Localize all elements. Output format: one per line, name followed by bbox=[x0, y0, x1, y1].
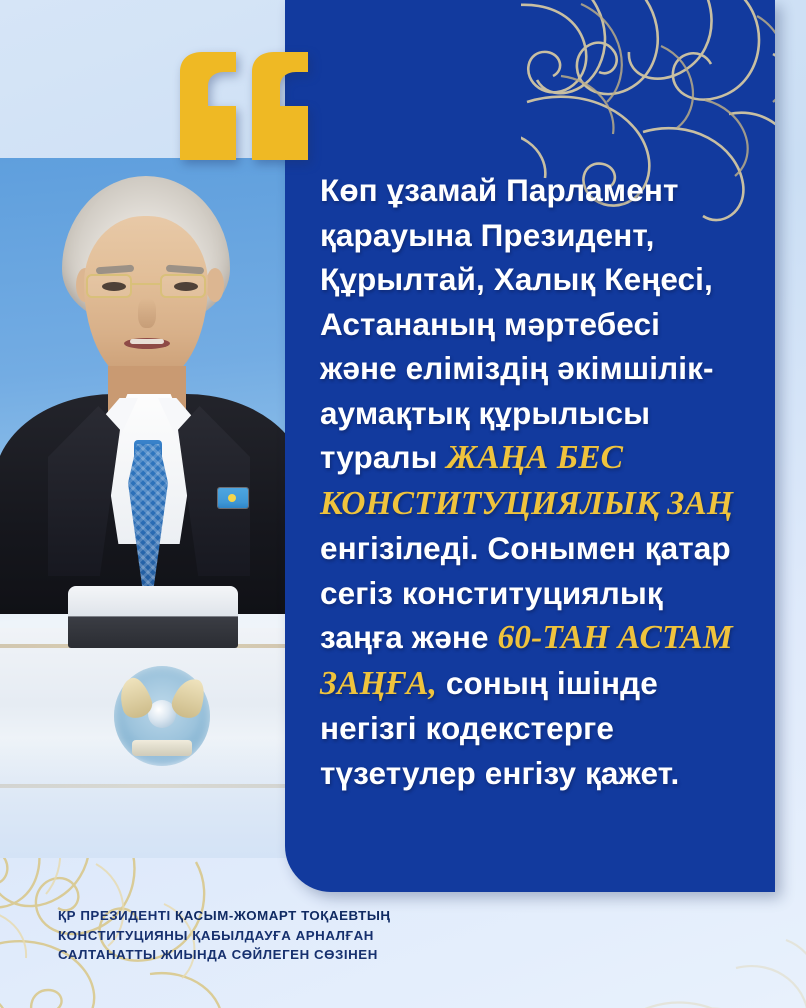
caption-line-3: САЛТАНАТТЫ ЖИЫНДА СӨЙЛЕГЕН СӨЗІНЕН bbox=[58, 945, 391, 965]
president-portrait-photo bbox=[0, 158, 300, 858]
caption-speaker-name: ҚАСЫМ-ЖОМАРТ ТОҚАЕВТЫҢ bbox=[175, 908, 391, 923]
caption-prefix: ҚР ПРЕЗИДЕНТІ bbox=[58, 908, 175, 923]
caption-line-1: ҚР ПРЕЗИДЕНТІ ҚАСЫМ-ЖОМАРТ ТОҚАЕВТЫҢ bbox=[58, 906, 391, 926]
caption: ҚР ПРЕЗИДЕНТІ ҚАСЫМ-ЖОМАРТ ТОҚАЕВТЫҢ КОН… bbox=[58, 906, 391, 965]
quote-text: Көп ұзамай Парламент қарауына Президент,… bbox=[320, 168, 740, 795]
double-quote-icon bbox=[178, 52, 310, 160]
quote-segment-1: Көп ұзамай Парламент қарауына Президент,… bbox=[320, 172, 714, 475]
ear bbox=[206, 268, 224, 302]
caption-line-2: КОНСТИТУЦИЯНЫ ҚАБЫЛДАУҒА АРНАЛҒАН bbox=[58, 926, 391, 946]
quote-card: Көп ұзамай Парламент қарауына Президент,… bbox=[0, 0, 806, 1008]
photo-fade bbox=[0, 738, 300, 858]
kazakhstan-flag-pin-icon bbox=[218, 488, 248, 508]
eyeglasses-icon bbox=[86, 274, 206, 300]
nose bbox=[138, 298, 156, 328]
teeth bbox=[130, 339, 164, 344]
laptop bbox=[68, 586, 238, 648]
